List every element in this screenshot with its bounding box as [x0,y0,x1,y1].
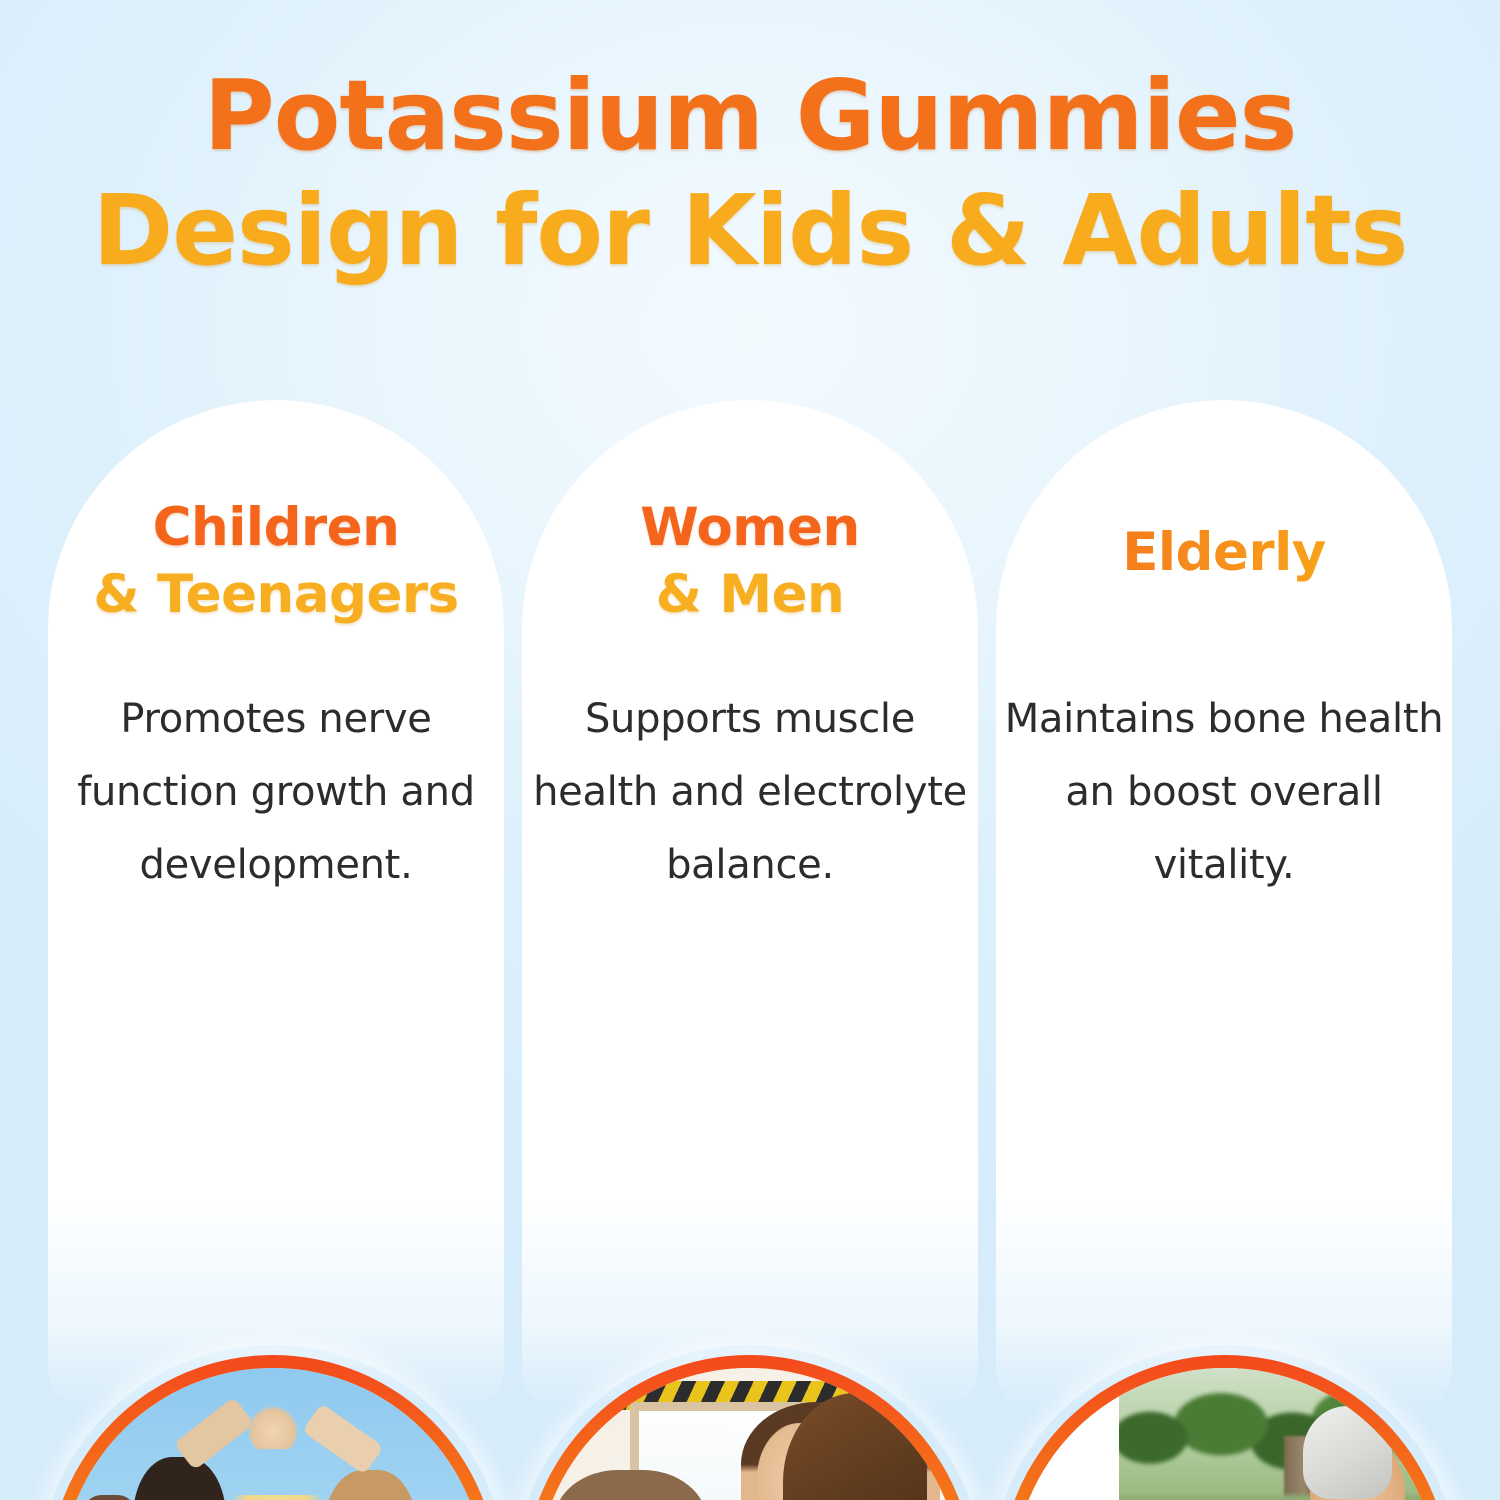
photo-children-image [61,1368,485,1500]
card-heading: Women & Men [522,495,978,629]
card-heading-line1: Women [522,495,978,562]
benefit-cards-row: Children & Teenagers Promotes nerve func… [0,400,1500,1500]
outdoor-scene [1119,1368,1437,1500]
teen-right-arm [303,1404,385,1476]
photo-women-men [537,1368,961,1500]
photo-elderly-image [1013,1368,1437,1500]
photo-circle-children [48,1355,498,1500]
high-five-hands [248,1406,299,1448]
teen-boy [133,1457,226,1500]
teen-boy-arm [174,1397,255,1471]
card-heading-line2: & Teenagers [48,562,504,629]
page-title: Potassium Gummies Design for Kids & Adul… [0,62,1500,285]
photo-circle-elderly [1000,1355,1450,1500]
title-line-primary: Potassium Gummies [0,62,1500,171]
senior-woman-hair [1303,1406,1392,1499]
title-line-secondary: Design for Kids & Adults [0,177,1500,286]
teen-center-hair [226,1495,328,1500]
benefit-card-women-men: Women & Men Supports muscle health and e… [522,400,978,1410]
benefit-card-children: Children & Teenagers Promotes nerve func… [48,400,504,1410]
card-heading-line1: Children [48,495,504,562]
card-body-text: Supports muscle health and electrolyte b… [530,683,970,901]
photo-women-men-image [537,1368,961,1500]
card-heading: Elderly [996,520,1452,587]
benefit-card-elderly: Elderly Maintains bone health an boost o… [996,400,1452,1410]
card-heading: Children & Teenagers [48,495,504,629]
card-body-text: Maintains bone health an boost overall v… [1004,683,1444,901]
card-heading-line1: Elderly [996,520,1452,587]
photo-children [61,1368,485,1500]
card-heading-line2: & Men [522,562,978,629]
infographic-root: Potassium Gummies Design for Kids & Adul… [0,0,1500,1500]
teen-right [324,1470,417,1500]
card-body-text: Promotes nerve function growth and devel… [56,683,496,901]
photo-circle-women-men [524,1355,974,1500]
photo-elderly [1013,1368,1437,1500]
